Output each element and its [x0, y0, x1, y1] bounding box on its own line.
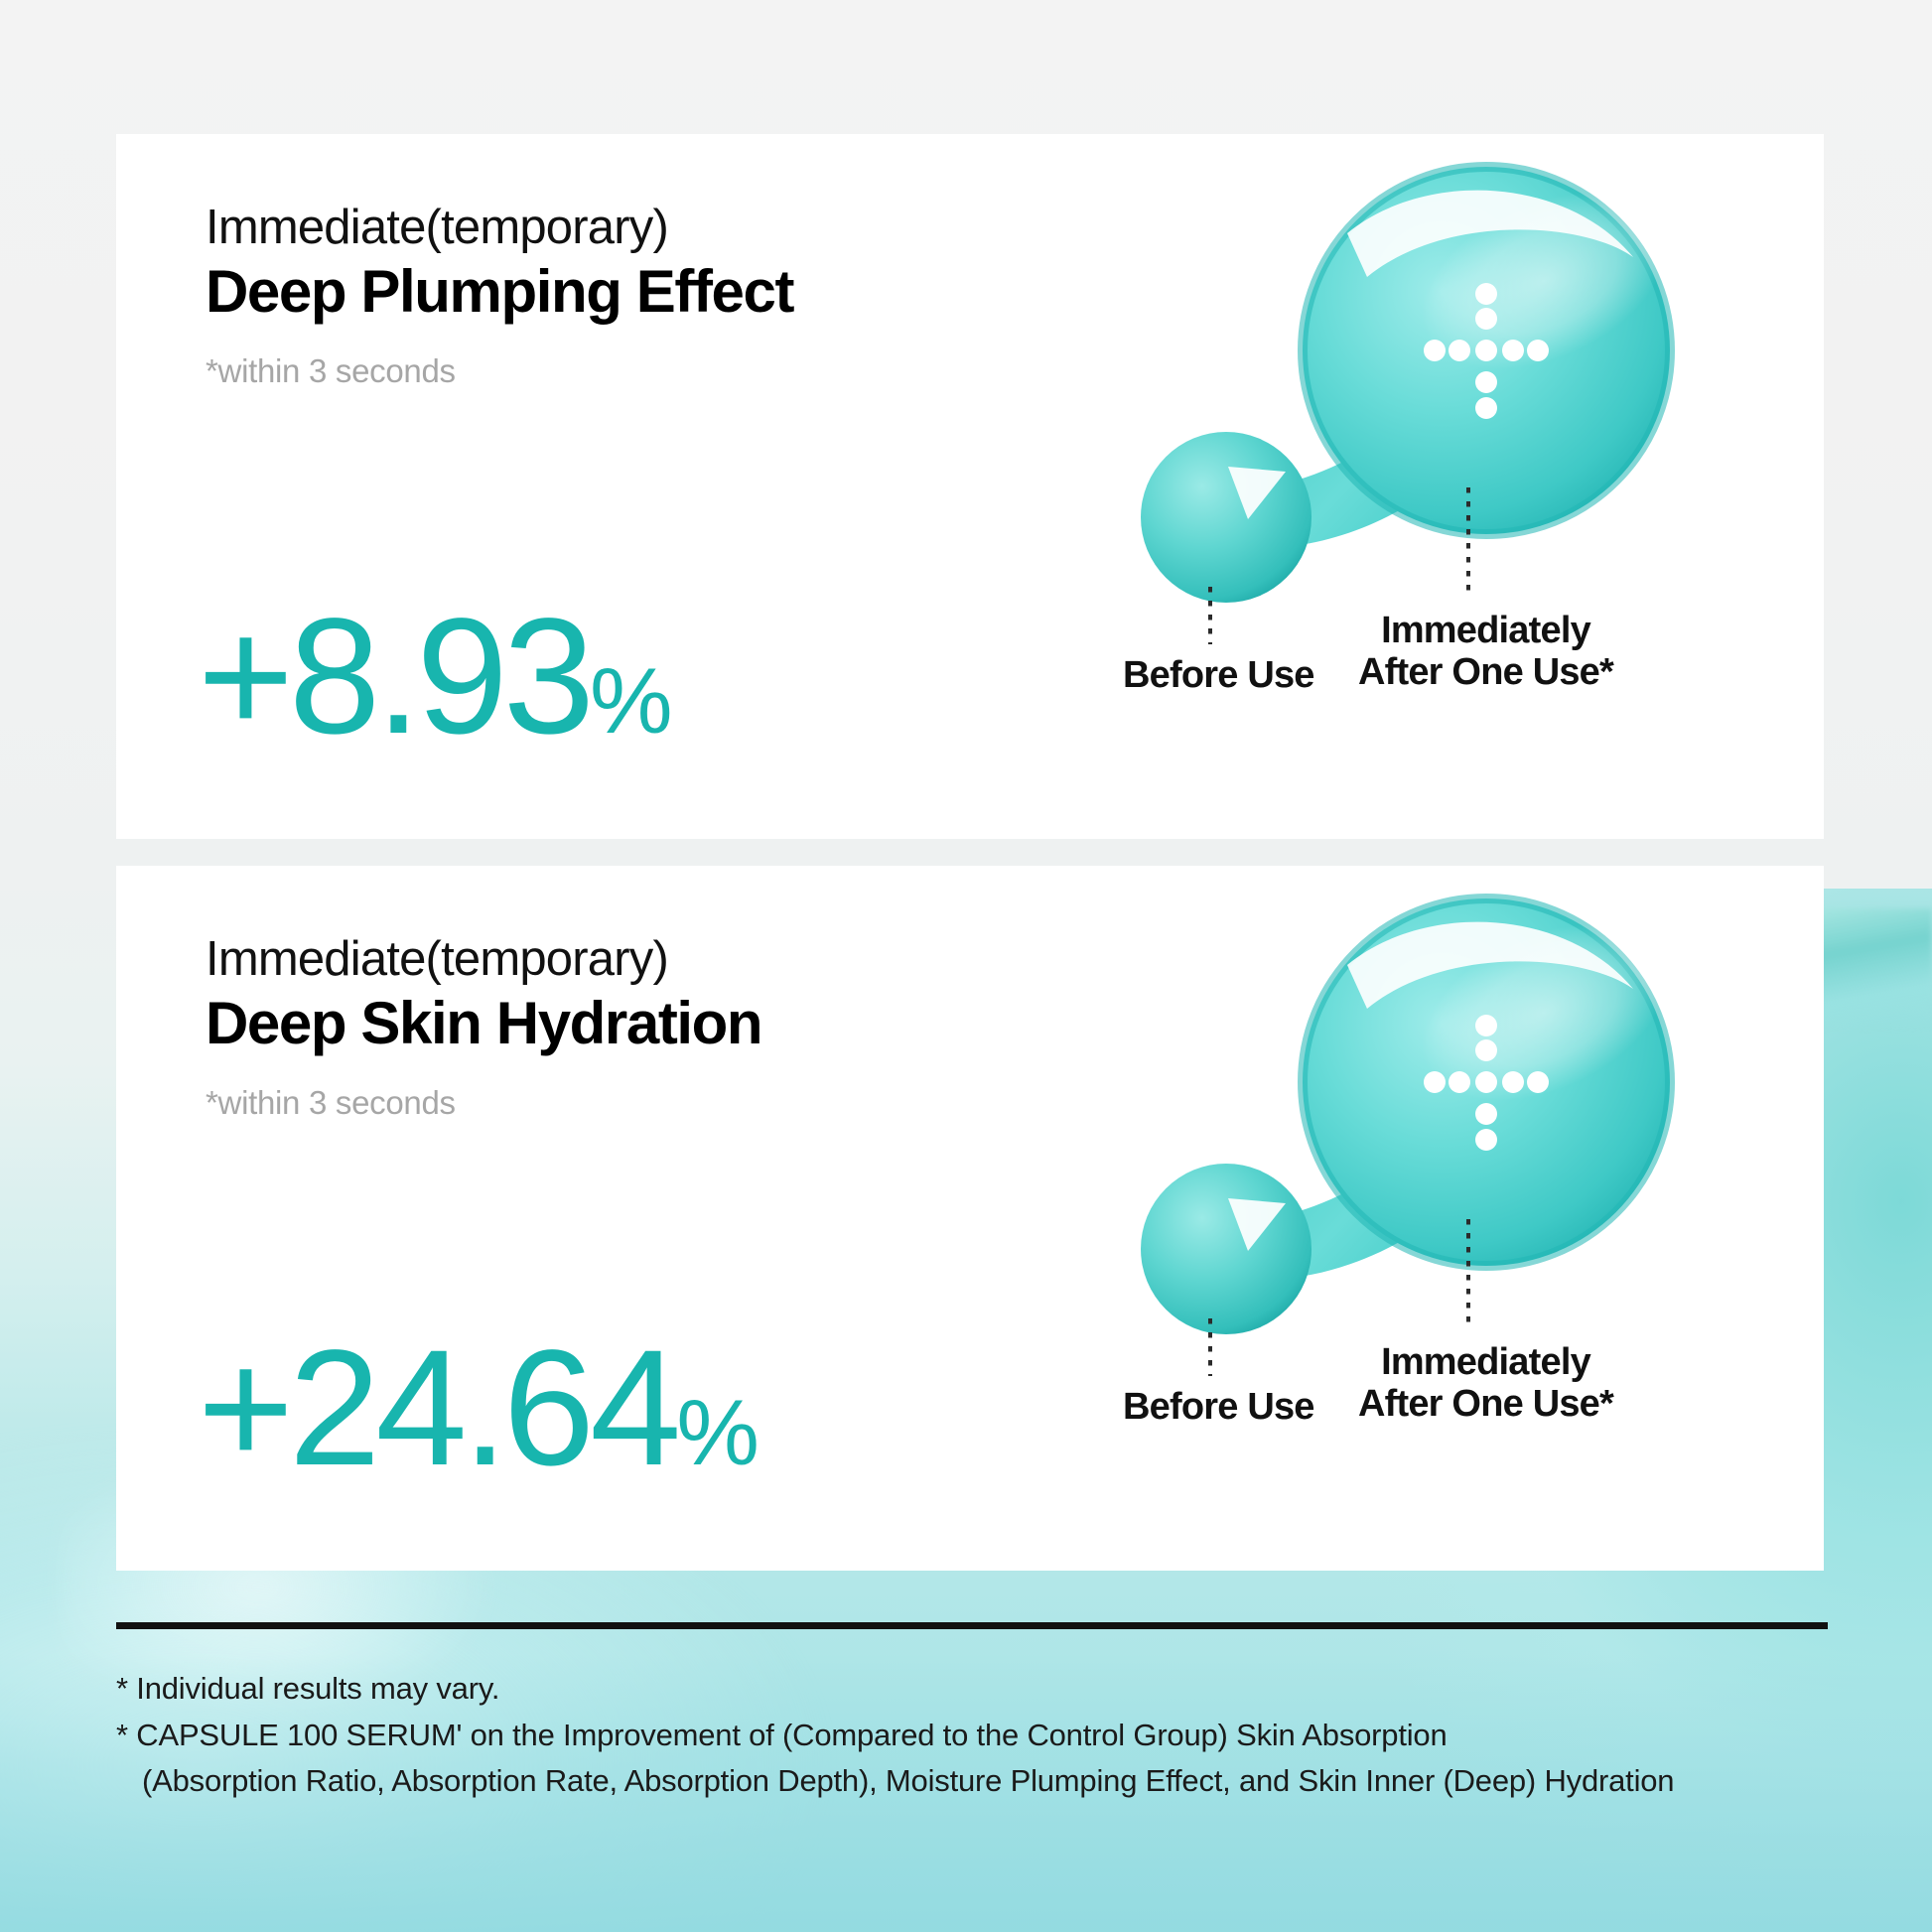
- leader-line-after: [1466, 1219, 1470, 1328]
- card-headline: Deep Skin Hydration: [206, 990, 761, 1056]
- stat-value-block: +8.93%: [198, 602, 671, 754]
- caption-after-use: Immediately After One Use*: [1358, 1342, 1613, 1426]
- caption-after-line2: After One Use*: [1358, 1383, 1613, 1425]
- footnote-divider: [116, 1622, 1828, 1629]
- card-text-block: Immediate(temporary) Deep Skin Hydration…: [206, 933, 761, 1122]
- card-subnote: *within 3 seconds: [206, 1084, 761, 1122]
- promo-infographic: Immediate(temporary) Deep Plumping Effec…: [0, 0, 1932, 1932]
- caption-after-use: Immediately After One Use*: [1358, 611, 1613, 694]
- caption-before-use: Before Use: [1123, 1387, 1314, 1429]
- footnote-line-2: * CAPSULE 100 SERUM' on the Improvement …: [116, 1713, 1893, 1759]
- stat-value-block: +24.64%: [198, 1333, 758, 1485]
- droplet-illustration: Before Use Immediately After One Use*: [1117, 162, 1732, 817]
- card-text-block: Immediate(temporary) Deep Plumping Effec…: [206, 202, 793, 390]
- water-droplets-icon: [1117, 162, 1732, 817]
- caption-after-line1: Immediately: [1381, 610, 1590, 651]
- footnote-line-3: (Absorption Ratio, Absorption Rate, Abso…: [116, 1758, 1893, 1805]
- stat-card-plumping: Immediate(temporary) Deep Plumping Effec…: [116, 134, 1824, 839]
- stat-percent-symbol: %: [590, 648, 671, 753]
- card-eyebrow: Immediate(temporary): [206, 933, 761, 986]
- caption-before-use: Before Use: [1123, 655, 1314, 697]
- water-droplets-icon: [1117, 894, 1732, 1549]
- droplet-illustration: Before Use Immediately After One Use*: [1117, 894, 1732, 1549]
- stat-percent-symbol: %: [676, 1380, 758, 1484]
- caption-after-line1: Immediately: [1381, 1341, 1590, 1383]
- card-eyebrow: Immediate(temporary): [206, 202, 793, 254]
- footnotes-block: * Individual results may vary. * CAPSULE…: [116, 1666, 1893, 1805]
- caption-after-line2: After One Use*: [1358, 651, 1613, 693]
- footnote-line-1: * Individual results may vary.: [116, 1666, 1893, 1713]
- small-droplet: [1141, 1164, 1311, 1334]
- card-subnote: *within 3 seconds: [206, 352, 793, 390]
- stat-number: +8.93: [198, 585, 590, 768]
- leader-line-before: [1208, 1318, 1212, 1376]
- stat-card-hydration: Immediate(temporary) Deep Skin Hydration…: [116, 866, 1824, 1571]
- leader-line-before: [1208, 587, 1212, 644]
- small-droplet: [1141, 432, 1311, 603]
- stat-number: +24.64: [198, 1316, 676, 1500]
- leader-line-after: [1466, 487, 1470, 597]
- card-headline: Deep Plumping Effect: [206, 258, 793, 325]
